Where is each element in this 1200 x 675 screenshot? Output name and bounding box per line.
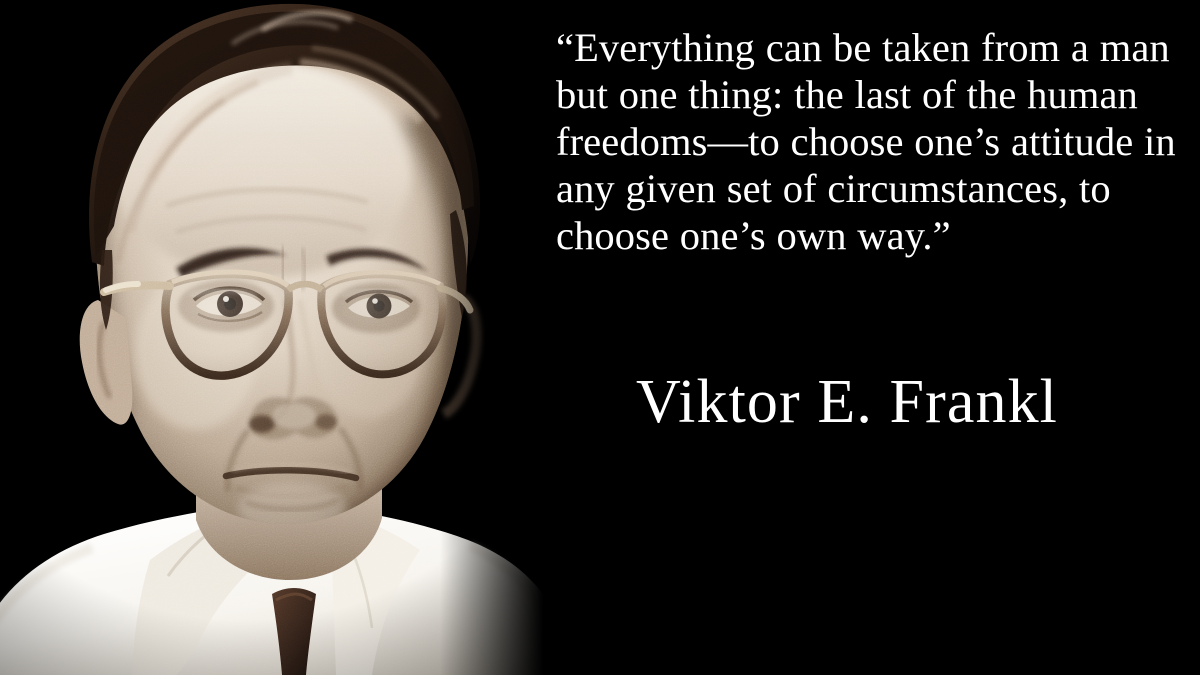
quote-line-3: freedoms—to choose one’s attitude in	[556, 118, 1196, 165]
quote-poster: “Everything can be taken from a man but …	[0, 0, 1200, 675]
quote-line-5: choose one’s own way.”	[556, 212, 1196, 259]
portrait-photo	[0, 0, 560, 675]
attribution-name: Viktor E. Frankl	[636, 367, 1058, 437]
quote-line-2: but one thing: the last of the human	[556, 71, 1196, 118]
quote-text: “Everything can be taken from a man but …	[556, 24, 1196, 259]
quote-line-1: “Everything can be taken from a man	[556, 24, 1196, 71]
portrait-illustration	[0, 0, 560, 675]
text-column: “Everything can be taken from a man but …	[552, 0, 1200, 675]
quote-line-4: any given set of circumstances, to	[556, 165, 1196, 212]
